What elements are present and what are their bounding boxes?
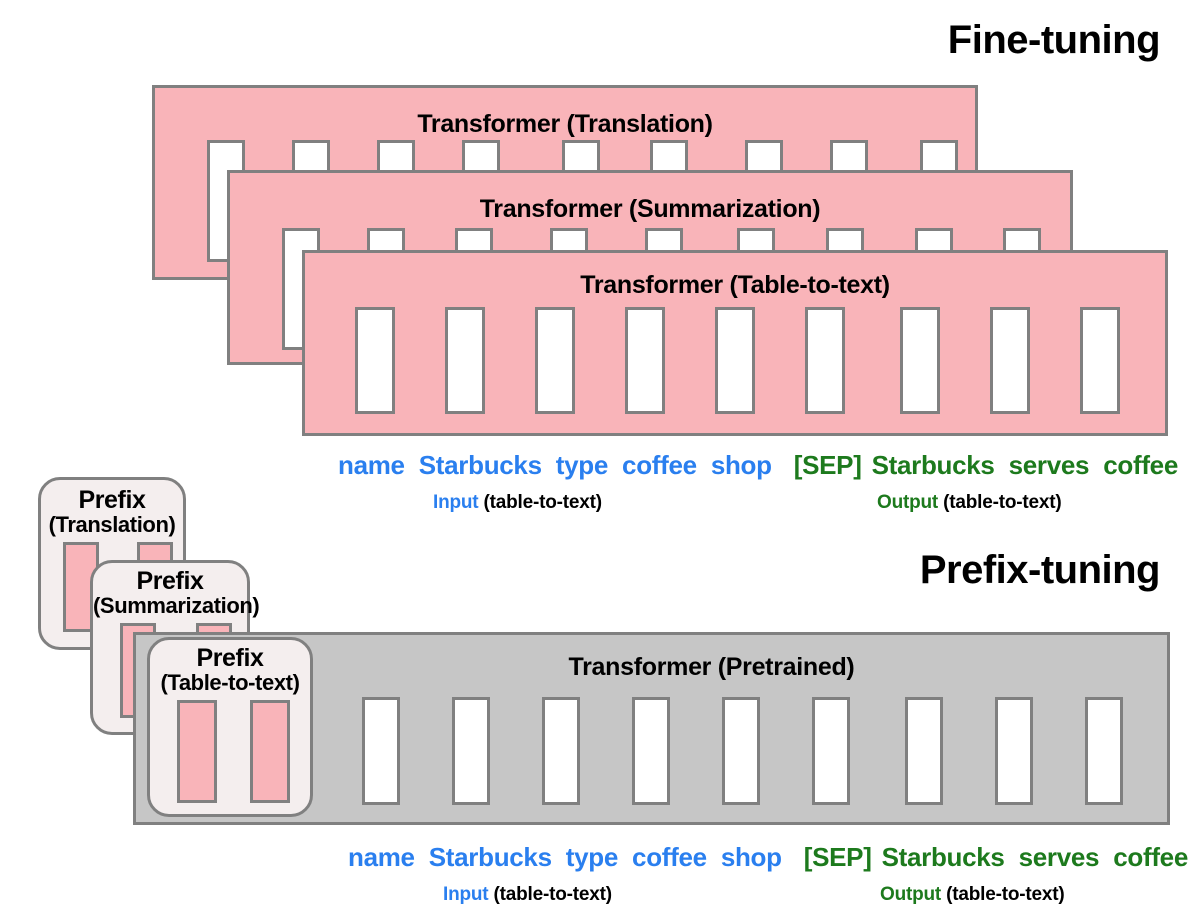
output-caption-task: (table-to-text) [946, 884, 1064, 905]
output-caption-fine-tuning: Output (table-to-text) [877, 492, 1062, 514]
token-slot [445, 307, 485, 414]
token-slot [542, 697, 580, 805]
output-caption-keyword: Output [880, 884, 941, 905]
diagram-canvas: Fine-tuning Transformer (Translation) Tr… [0, 0, 1188, 908]
input-token: shop [711, 450, 772, 481]
token-sequence-fine-tuning: name Starbucks type coffee shop [SEP] St… [338, 450, 1178, 481]
output-caption-keyword: Output [877, 492, 938, 513]
input-token: Starbucks [419, 450, 542, 481]
output-token: coffee [1113, 842, 1188, 873]
token-slot [355, 307, 395, 414]
token-slot [900, 307, 940, 414]
token-slot [905, 697, 943, 805]
prefix-label-translation: Prefix (Translation) [41, 488, 183, 536]
input-token: type [556, 450, 608, 481]
output-caption-task: (table-to-text) [943, 492, 1061, 513]
input-token: coffee [632, 842, 707, 873]
prefix-label-line2: (Translation) [41, 514, 183, 536]
prefix-label-summarization: Prefix (Summarization) [93, 569, 247, 617]
transformer-label-translation: Transformer (Translation) [155, 110, 975, 139]
prefix-label-table-to-text: Prefix (Table-to-text) [150, 646, 310, 694]
token-slot [535, 307, 575, 414]
input-token: coffee [622, 450, 697, 481]
token-slot [632, 697, 670, 805]
prefix-label-line1: Prefix [93, 569, 247, 595]
input-caption-keyword: Input [433, 492, 478, 513]
token-sequence-prefix-tuning: name Starbucks type coffee shop [SEP] St… [348, 842, 1188, 873]
token-slot [625, 307, 665, 414]
token-slot [812, 697, 850, 805]
token-slot [1080, 307, 1120, 414]
output-token: serves [1019, 842, 1100, 873]
separator-token: [SEP] [804, 842, 872, 873]
input-token: shop [721, 842, 782, 873]
input-token: Starbucks [429, 842, 552, 873]
prefix-bar [250, 700, 290, 803]
input-caption-task: (table-to-text) [494, 884, 612, 905]
token-slot [1085, 697, 1123, 805]
prefix-tuning-heading: Prefix-tuning [920, 548, 1160, 593]
prefix-bar [177, 700, 217, 803]
input-token: name [348, 842, 415, 873]
input-token: name [338, 450, 405, 481]
separator-token: [SEP] [794, 450, 862, 481]
input-caption-keyword: Input [443, 884, 488, 905]
prefix-label-line1: Prefix [150, 646, 310, 672]
transformer-label-table-to-text: Transformer (Table-to-text) [305, 271, 1165, 300]
transformer-label-pretrained: Transformer (Pretrained) [256, 653, 1167, 682]
token-slot [995, 697, 1033, 805]
prefix-label-line1: Prefix [41, 488, 183, 514]
input-caption-task: (table-to-text) [484, 492, 602, 513]
output-token: Starbucks [872, 450, 995, 481]
input-caption-prefix-tuning: Input (table-to-text) [443, 884, 612, 906]
prefix-label-line2: (Table-to-text) [150, 672, 310, 694]
prefix-label-line2: (Summarization) [93, 595, 247, 617]
token-slot [452, 697, 490, 805]
token-slot [715, 307, 755, 414]
token-slot [805, 307, 845, 414]
input-token: type [566, 842, 618, 873]
token-slot [722, 697, 760, 805]
transformer-label-summarization: Transformer (Summarization) [230, 195, 1070, 224]
output-token: Starbucks [882, 842, 1005, 873]
fine-tuning-heading: Fine-tuning [948, 18, 1160, 63]
input-caption-fine-tuning: Input (table-to-text) [433, 492, 602, 514]
output-token: coffee [1103, 450, 1178, 481]
output-caption-prefix-tuning: Output (table-to-text) [880, 884, 1065, 906]
output-token: serves [1009, 450, 1090, 481]
token-slot [990, 307, 1030, 414]
token-slot [362, 697, 400, 805]
